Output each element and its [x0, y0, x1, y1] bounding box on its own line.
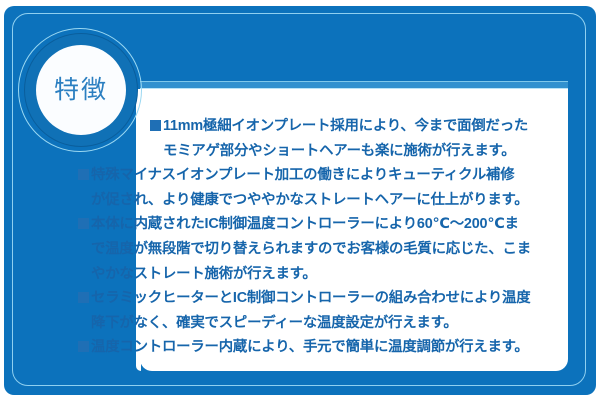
bullet-square-icon [78, 341, 89, 352]
feature-item-wrap-line: が促され、より健康でつややかなストレートヘアーに仕上がります。 [78, 188, 568, 213]
accent-band [140, 81, 568, 89]
bullet-square-icon [78, 169, 89, 180]
feature-item-first-line: 11mm極細イオンプレート採用により、今まで面倒だった [78, 114, 568, 139]
feature-text: モミアゲ部分やショートヘアーも楽に施術が行えます。 [163, 143, 515, 159]
feature-text: 本体に内蔵されたIC制御温度コントローラーにより60℃～200℃ま [91, 216, 519, 232]
feature-item-wrap-line: で温度が無段階で切り替えられますのでお客様の毛質に応じた、こま [78, 237, 568, 262]
feature-text: 特殊マイナスイオンプレート加工の働きによりキューティクル補修 [91, 167, 514, 183]
feature-item-wrap-line: 降下がなく、確実でスピーディーな温度設定が行えます。 [78, 311, 568, 336]
feature-text: が促され、より健康でつややかなストレートヘアーに仕上がります。 [91, 192, 528, 208]
feature-text: 温度コントローラー内蔵により、手元で簡単に温度調節が行えます。 [91, 339, 529, 355]
feature-item-wrap-line: やかなストレート施術が行えます。 [78, 262, 568, 287]
feature-item-wrap-line: モミアゲ部分やショートヘアーも楽に施術が行えます。 [78, 139, 568, 164]
bullet-square-icon [78, 292, 89, 303]
feature-text: セラミックヒーターとIC制御コントローラーの組み合わせにより温度 [91, 290, 530, 306]
badge-label: 特徴 [54, 78, 108, 103]
feature-text: で温度が無段階で切り替えられますのでお客様の毛質に応じた、こま [91, 241, 531, 257]
feature-list: 11mm極細イオンプレート採用により、今まで面倒だったモミアゲ部分やショートヘア… [78, 114, 568, 360]
feature-text: 降下がなく、確実でスピーディーな温度設定が行えます。 [91, 315, 458, 331]
feature-item-first-line: 特殊マイナスイオンプレート加工の働きによりキューティクル補修 [78, 163, 568, 188]
product-feature-poster: 特徴 11mm極細イオンプレート採用により、今まで面倒だったモミアゲ部分やショー… [0, 0, 600, 401]
bullet-square-icon [150, 120, 161, 131]
feature-text: やかなストレート施術が行えます。 [91, 266, 317, 282]
feature-text: 11mm極細イオンプレート採用により、今まで面倒だった [163, 118, 528, 134]
feature-item-first-line: 本体に内蔵されたIC制御温度コントローラーにより60℃～200℃ま [78, 212, 568, 237]
bullet-square-icon [78, 218, 89, 229]
feature-item-first-line: セラミックヒーターとIC制御コントローラーの組み合わせにより温度 [78, 286, 568, 311]
feature-item-first-line: 温度コントローラー内蔵により、手元で簡単に温度調節が行えます。 [78, 335, 568, 360]
